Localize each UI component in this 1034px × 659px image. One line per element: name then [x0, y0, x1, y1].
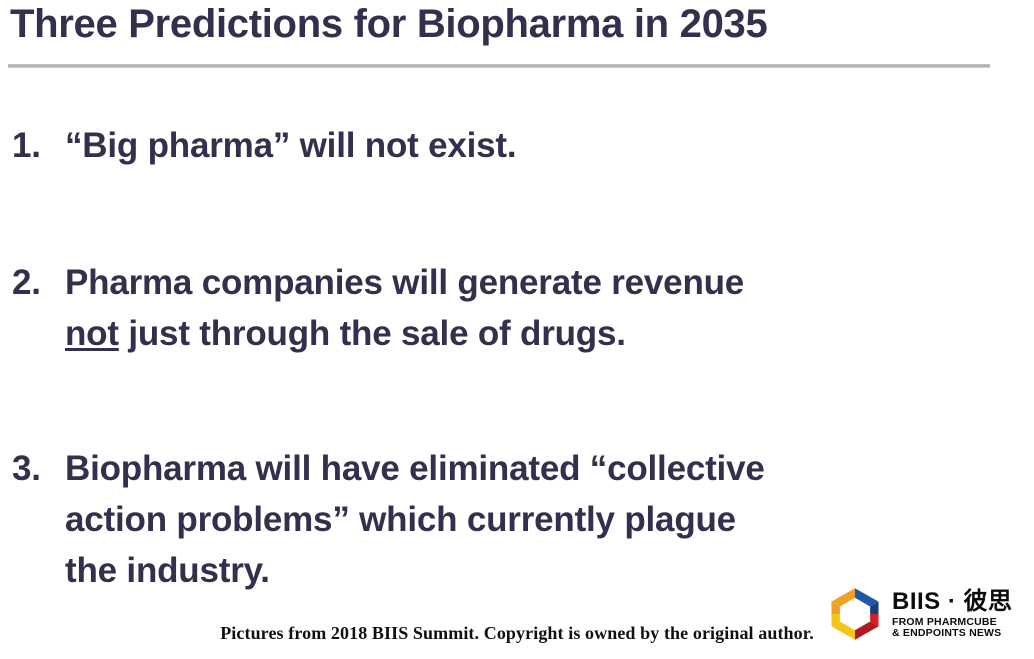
- biis-logo-text: BIIS · 彼思 FROM PHARMCUBE & ENDPOINTS NEW…: [892, 590, 1013, 639]
- list-item: 2. Pharma companies will generate revenu…: [0, 257, 1000, 359]
- list-item-line: “Big pharma” will not exist.: [65, 120, 1000, 171]
- list-item-number: 3.: [12, 443, 41, 494]
- biis-wordmark: BIIS · 彼思: [892, 590, 1013, 614]
- list-item-line: action problems” which currently plague: [65, 494, 1000, 545]
- biis-subline-1: FROM PHARMCUBE: [892, 617, 1013, 628]
- emphasis-not: not: [65, 314, 119, 353]
- list-item-line: Biopharma will have eliminated “collecti…: [65, 443, 1000, 494]
- list-item-number: 2.: [12, 257, 41, 308]
- biis-subline-2: & ENDPOINTS NEWS: [892, 628, 1013, 639]
- list-item: 3. Biopharma will have eliminated “colle…: [0, 443, 1000, 596]
- page-title: Three Predictions for Biopharma in 2035: [10, 0, 767, 50]
- list-item-line: Pharma companies will generate revenue: [65, 257, 1000, 308]
- biis-hexagon-logo-icon: [827, 586, 883, 642]
- list-item-line-rest: just through the sale of drugs.: [119, 314, 626, 353]
- biis-logo-badge: BIIS · 彼思 FROM PHARMCUBE & ENDPOINTS NEW…: [815, 578, 1034, 650]
- title-divider: [8, 64, 990, 68]
- list-item-number: 1.: [12, 120, 41, 171]
- predictions-list: 1. “Big pharma” will not exist. 2. Pharm…: [0, 120, 1000, 596]
- list-item-line: not just through the sale of drugs.: [65, 308, 1000, 359]
- list-item: 1. “Big pharma” will not exist.: [0, 120, 1000, 171]
